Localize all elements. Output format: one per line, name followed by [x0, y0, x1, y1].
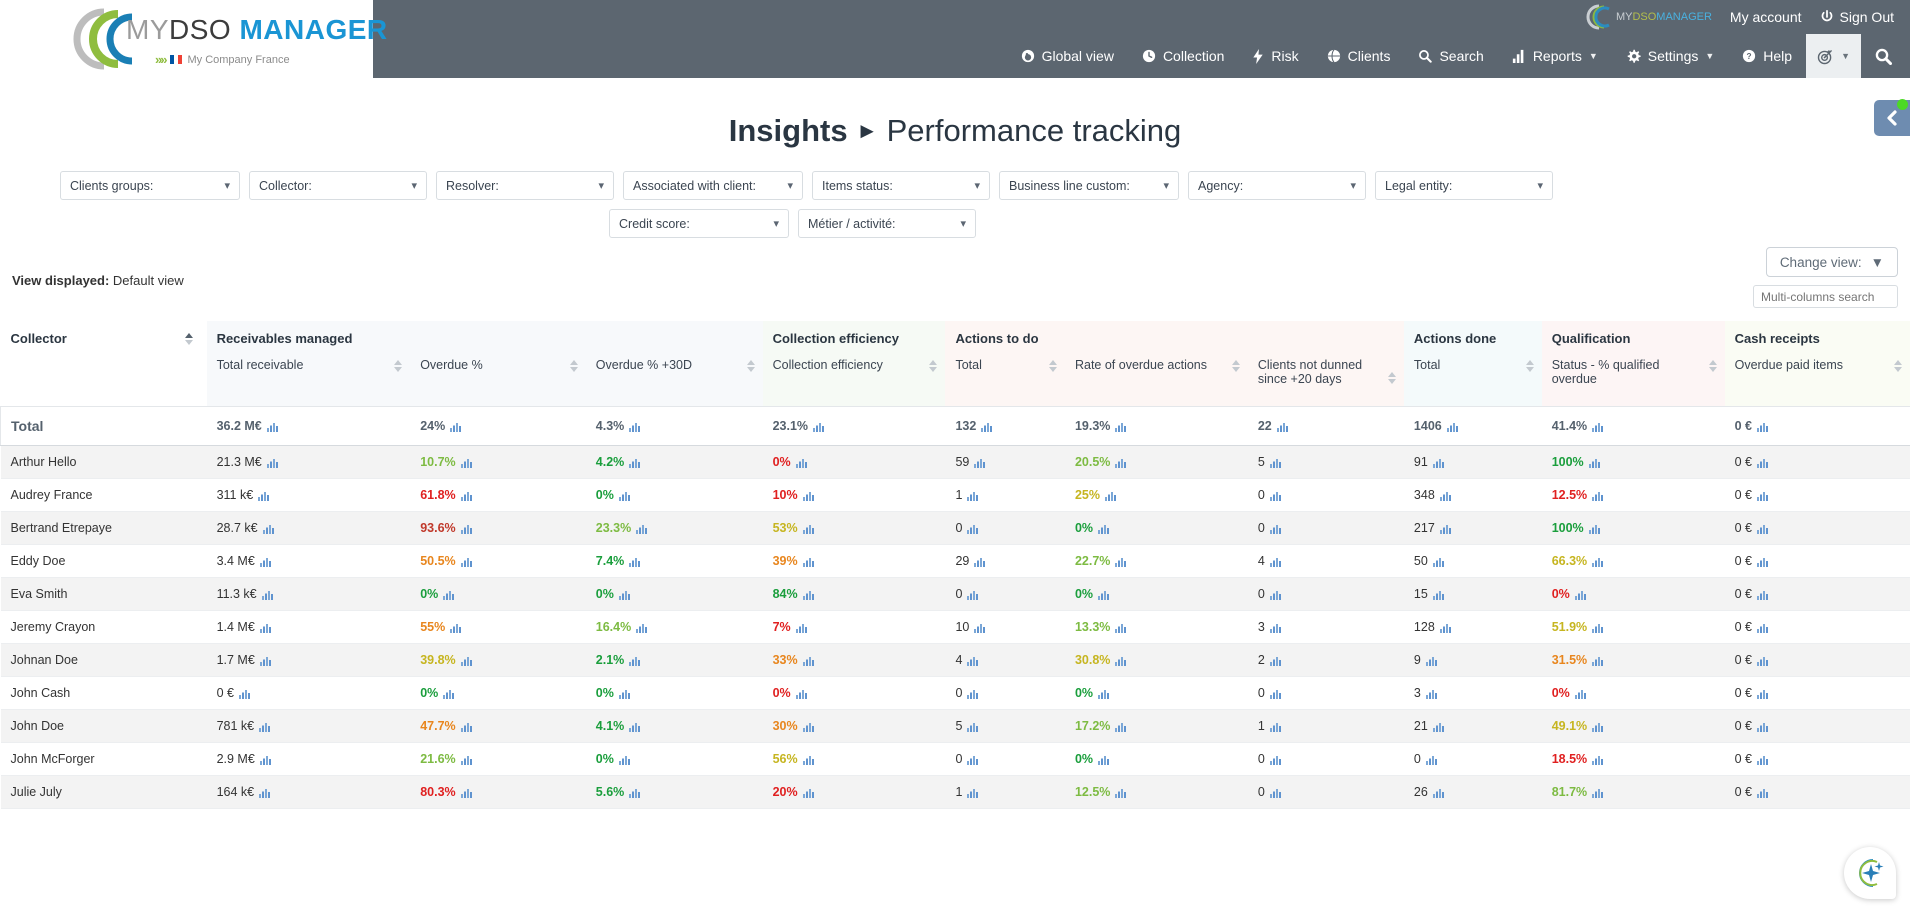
cell-value[interactable]: 3 — [1404, 677, 1542, 710]
cell-value[interactable]: 128 — [1404, 611, 1542, 644]
cell-value[interactable]: 3 — [1248, 611, 1404, 644]
mini-bar-chart-icon[interactable] — [1433, 589, 1444, 600]
mini-bar-chart-icon[interactable] — [974, 457, 985, 468]
cell-value[interactable]: 61.8% — [410, 479, 586, 512]
mini-bar-chart-icon[interactable] — [1426, 754, 1437, 765]
cell-collector-name[interactable]: Total — [1, 407, 207, 446]
cell-value[interactable]: 0 — [1248, 677, 1404, 710]
mini-bar-chart-icon[interactable] — [1440, 490, 1451, 501]
mini-bar-chart-icon[interactable] — [967, 523, 978, 534]
cell-value[interactable]: 28.7 k€ — [207, 512, 411, 545]
mini-bar-chart-icon[interactable] — [1757, 523, 1768, 534]
mini-bar-chart-icon[interactable] — [1592, 490, 1603, 501]
mini-bar-chart-icon[interactable] — [1270, 589, 1281, 600]
cell-value[interactable]: 23.3% — [586, 512, 763, 545]
cell-value[interactable]: 348 — [1404, 479, 1542, 512]
cell-collector-name[interactable]: Johnan Doe — [1, 644, 207, 677]
mini-bar-chart-icon[interactable] — [803, 589, 814, 600]
mini-bar-chart-icon[interactable] — [629, 457, 640, 468]
sort-toggle-total-receivable[interactable] — [394, 360, 402, 372]
cell-value[interactable]: 4.1% — [586, 710, 763, 743]
mini-bar-chart-icon[interactable] — [1270, 523, 1281, 534]
mini-bar-chart-icon[interactable] — [267, 421, 278, 432]
mini-bar-chart-icon[interactable] — [1098, 523, 1109, 534]
mini-bar-chart-icon[interactable] — [974, 556, 985, 567]
mini-bar-chart-icon[interactable] — [619, 688, 630, 699]
mini-bar-chart-icon[interactable] — [1575, 688, 1586, 699]
cell-collector-name[interactable]: Audrey France — [1, 479, 207, 512]
cell-value[interactable]: 0% — [1542, 578, 1725, 611]
cell-value[interactable]: 21.6% — [410, 743, 586, 776]
cell-value[interactable]: 0 € — [1725, 677, 1910, 710]
cell-value[interactable]: 51.9% — [1542, 611, 1725, 644]
cell-collector-name[interactable]: Jeremy Crayon — [1, 611, 207, 644]
mini-bar-chart-icon[interactable] — [1592, 421, 1603, 432]
cell-value[interactable]: 25% — [1065, 479, 1248, 512]
cell-value[interactable]: 0% — [763, 677, 946, 710]
column-actions-total[interactable]: Total — [945, 352, 1064, 407]
sort-toggle-rate-of-overdue-actions[interactable] — [1232, 360, 1240, 372]
cell-value[interactable]: 66.3% — [1542, 545, 1725, 578]
mini-bar-chart-icon[interactable] — [796, 622, 807, 633]
cell-value[interactable]: 781 k€ — [207, 710, 411, 743]
mini-bar-chart-icon[interactable] — [443, 688, 454, 699]
mini-bar-chart-icon[interactable] — [1115, 457, 1126, 468]
cell-value[interactable]: 0% — [586, 479, 763, 512]
mini-bar-chart-icon[interactable] — [636, 523, 647, 534]
nav-item-search[interactable]: Search — [1404, 34, 1497, 78]
mini-bar-chart-icon[interactable] — [967, 688, 978, 699]
nav-item-risk[interactable]: Risk — [1238, 34, 1312, 78]
cell-value[interactable]: 1 — [945, 776, 1064, 809]
cell-value[interactable]: 24% — [410, 407, 586, 446]
mini-bar-chart-icon[interactable] — [803, 721, 814, 732]
mini-bar-chart-icon[interactable] — [260, 556, 271, 567]
cell-value[interactable]: 80.3% — [410, 776, 586, 809]
cell-value[interactable]: 7% — [763, 611, 946, 644]
sort-toggle-overdue-pct-30d[interactable] — [747, 360, 755, 372]
filter-collector[interactable]: Collector: ▾ — [249, 171, 427, 200]
cell-value[interactable]: 0 — [1248, 743, 1404, 776]
mini-bar-chart-icon[interactable] — [1440, 622, 1451, 633]
cell-value[interactable]: 0% — [1065, 512, 1248, 545]
cell-value[interactable]: 12.5% — [1542, 479, 1725, 512]
cell-value[interactable]: 164 k€ — [207, 776, 411, 809]
table-row[interactable]: Johnan Doe1.7 M€39.8%2.1%33%430.8%2931.5… — [1, 644, 1910, 677]
mini-bar-chart-icon[interactable] — [629, 556, 640, 567]
mini-bar-chart-icon[interactable] — [803, 490, 814, 501]
mini-bar-chart-icon[interactable] — [1592, 754, 1603, 765]
mini-bar-chart-icon[interactable] — [267, 457, 278, 468]
filter-agency[interactable]: Agency: ▾ — [1188, 171, 1366, 200]
mini-bar-chart-icon[interactable] — [1115, 721, 1126, 732]
filter-metier-activite[interactable]: Métier / activité: ▾ — [798, 209, 976, 238]
table-row[interactable]: Jeremy Crayon1.4 M€55%16.4%7%1013.3%3128… — [1, 611, 1910, 644]
mini-bar-chart-icon[interactable] — [1277, 421, 1288, 432]
cell-value[interactable]: 1.4 M€ — [207, 611, 411, 644]
mini-bar-chart-icon[interactable] — [803, 523, 814, 534]
cell-collector-name[interactable]: Bertrand Etrepaye — [1, 512, 207, 545]
mini-bar-chart-icon[interactable] — [461, 754, 472, 765]
cell-collector-name[interactable]: Eddy Doe — [1, 545, 207, 578]
mini-bar-chart-icon[interactable] — [1270, 655, 1281, 666]
mini-bar-chart-icon[interactable] — [443, 589, 454, 600]
mini-bar-chart-icon[interactable] — [262, 589, 273, 600]
mini-bar-chart-icon[interactable] — [974, 622, 985, 633]
cell-value[interactable]: 31.5% — [1542, 644, 1725, 677]
cell-value[interactable]: 84% — [763, 578, 946, 611]
mini-bar-chart-icon[interactable] — [636, 622, 647, 633]
mini-bar-chart-icon[interactable] — [1270, 556, 1281, 567]
cell-value[interactable]: 19.3% — [1065, 407, 1248, 446]
mini-bar-chart-icon[interactable] — [263, 523, 274, 534]
table-row[interactable]: Arthur Hello21.3 M€10.7%4.2%0%5920.5%591… — [1, 446, 1910, 479]
cell-value[interactable]: 16.4% — [586, 611, 763, 644]
multi-columns-search-input[interactable] — [1753, 285, 1898, 308]
cell-value[interactable]: 47.7% — [410, 710, 586, 743]
mini-bar-chart-icon[interactable] — [1757, 787, 1768, 798]
sort-toggle-collector[interactable] — [185, 333, 193, 345]
cell-value[interactable]: 0 € — [1725, 611, 1910, 644]
mini-bar-chart-icon[interactable] — [1426, 688, 1437, 699]
mini-bar-chart-icon[interactable] — [259, 721, 270, 732]
cell-value[interactable]: 50 — [1404, 545, 1542, 578]
cell-value[interactable]: 2 — [1248, 644, 1404, 677]
cell-value[interactable]: 10.7% — [410, 446, 586, 479]
cell-value[interactable]: 1406 — [1404, 407, 1542, 446]
cell-value[interactable]: 21 — [1404, 710, 1542, 743]
cell-value[interactable]: 39% — [763, 545, 946, 578]
cell-value[interactable]: 15 — [1404, 578, 1542, 611]
table-row[interactable]: Julie July164 k€80.3%5.6%20%112.5%02681.… — [1, 776, 1910, 809]
mini-bar-chart-icon[interactable] — [1270, 754, 1281, 765]
cell-value[interactable]: 4.3% — [586, 407, 763, 446]
mini-bar-chart-icon[interactable] — [1115, 622, 1126, 633]
mini-bar-chart-icon[interactable] — [967, 655, 978, 666]
cell-value[interactable]: 33% — [763, 644, 946, 677]
column-overdue-pct-30d[interactable]: Overdue % +30D — [586, 352, 763, 407]
mini-bar-chart-icon[interactable] — [239, 688, 250, 699]
cell-value[interactable]: 0 € — [1725, 407, 1910, 446]
cell-value[interactable]: 0 € — [1725, 446, 1910, 479]
mini-bar-chart-icon[interactable] — [803, 787, 814, 798]
nav-item-global-view[interactable]: Global view — [1007, 34, 1128, 78]
sort-toggle-clients-not-dunned[interactable] — [1388, 372, 1396, 384]
mini-bar-chart-icon[interactable] — [1433, 787, 1444, 798]
column-rate-of-overdue-actions[interactable]: Rate of overdue actions — [1065, 352, 1248, 407]
mini-bar-chart-icon[interactable] — [1592, 721, 1603, 732]
cell-value[interactable]: 0 € — [1725, 743, 1910, 776]
mini-bar-chart-icon[interactable] — [461, 523, 472, 534]
cell-value[interactable]: 12.5% — [1065, 776, 1248, 809]
cell-value[interactable]: 0 — [1248, 578, 1404, 611]
mini-bar-chart-icon[interactable] — [259, 787, 270, 798]
mini-bar-chart-icon[interactable] — [967, 490, 978, 501]
mini-bar-chart-icon[interactable] — [450, 421, 461, 432]
cell-value[interactable]: 2.9 M€ — [207, 743, 411, 776]
mini-bar-chart-icon[interactable] — [1115, 655, 1126, 666]
mini-bar-chart-icon[interactable] — [796, 457, 807, 468]
cell-value[interactable]: 53% — [763, 512, 946, 545]
column-clients-not-dunned[interactable]: Clients not dunned since +20 days — [1248, 352, 1404, 407]
cell-value[interactable]: 0% — [1065, 743, 1248, 776]
cell-value[interactable]: 0 € — [1725, 512, 1910, 545]
cell-value[interactable]: 39.8% — [410, 644, 586, 677]
cell-value[interactable]: 30.8% — [1065, 644, 1248, 677]
cell-value[interactable]: 5.6% — [586, 776, 763, 809]
cell-value[interactable]: 217 — [1404, 512, 1542, 545]
cell-value[interactable]: 2.1% — [586, 644, 763, 677]
my-account-link[interactable]: My account — [1730, 9, 1802, 25]
cell-value[interactable]: 30% — [763, 710, 946, 743]
mini-bar-chart-icon[interactable] — [1447, 421, 1458, 432]
cell-value[interactable]: 0 € — [1725, 776, 1910, 809]
mini-bar-chart-icon[interactable] — [1757, 589, 1768, 600]
mini-bar-chart-icon[interactable] — [1757, 421, 1768, 432]
mini-bar-chart-icon[interactable] — [629, 421, 640, 432]
mini-bar-chart-icon[interactable] — [1433, 721, 1444, 732]
nav-item-help[interactable]: ? Help — [1728, 34, 1806, 78]
mini-bar-chart-icon[interactable] — [619, 589, 630, 600]
group-collector[interactable]: Collector — [1, 321, 207, 352]
column-status-qualified-overdue[interactable]: Status - % qualified overdue — [1542, 352, 1725, 407]
cell-value[interactable]: 0 — [1248, 479, 1404, 512]
filter-business-line-custom[interactable]: Business line custom: ▾ — [999, 171, 1179, 200]
cell-value[interactable]: 0 — [1404, 743, 1542, 776]
mini-bar-chart-icon[interactable] — [1270, 787, 1281, 798]
cell-value[interactable]: 49.1% — [1542, 710, 1725, 743]
mini-bar-chart-icon[interactable] — [1426, 655, 1437, 666]
cell-value[interactable]: 4 — [945, 644, 1064, 677]
mini-bar-chart-icon[interactable] — [258, 490, 269, 501]
cell-value[interactable]: 0% — [763, 446, 946, 479]
cell-collector-name[interactable]: John Doe — [1, 710, 207, 743]
cell-value[interactable]: 0% — [1065, 578, 1248, 611]
cell-collector-name[interactable]: John McForger — [1, 743, 207, 776]
mini-bar-chart-icon[interactable] — [1592, 655, 1603, 666]
mini-bar-chart-icon[interactable] — [1098, 688, 1109, 699]
table-row[interactable]: Bertrand Etrepaye28.7 k€93.6%23.3%53%00%… — [1, 512, 1910, 545]
cell-value[interactable]: 10 — [945, 611, 1064, 644]
cell-value[interactable]: 100% — [1542, 446, 1725, 479]
mini-bar-chart-icon[interactable] — [1115, 556, 1126, 567]
sort-toggle-overdue-pct[interactable] — [570, 360, 578, 372]
mini-bar-chart-icon[interactable] — [461, 787, 472, 798]
cell-value[interactable]: 0% — [586, 677, 763, 710]
mini-bar-chart-icon[interactable] — [629, 721, 640, 732]
assistant-button[interactable] — [1844, 847, 1896, 899]
cell-value[interactable]: 0 — [945, 578, 1064, 611]
mini-bar-chart-icon[interactable] — [1757, 655, 1768, 666]
mini-bar-chart-icon[interactable] — [1115, 421, 1126, 432]
sort-toggle-collection-efficiency[interactable] — [929, 360, 937, 372]
column-total-receivable[interactable]: Total receivable — [207, 352, 411, 407]
mini-bar-chart-icon[interactable] — [803, 655, 814, 666]
brand-logo-panel[interactable]: MYDSO MANAGER »» My Company France — [0, 0, 373, 78]
cell-value[interactable]: 0 € — [1725, 644, 1910, 677]
cell-value[interactable]: 11.3 k€ — [207, 578, 411, 611]
cell-value[interactable]: 36.2 M€ — [207, 407, 411, 446]
cell-value[interactable]: 0 € — [1725, 479, 1910, 512]
cell-value[interactable]: 22.7% — [1065, 545, 1248, 578]
cell-value[interactable]: 59 — [945, 446, 1064, 479]
cell-value[interactable]: 0 — [1248, 776, 1404, 809]
cell-value[interactable]: 93.6% — [410, 512, 586, 545]
mini-bar-chart-icon[interactable] — [1270, 721, 1281, 732]
filter-items-status[interactable]: Items status: ▾ — [812, 171, 990, 200]
mini-bar-chart-icon[interactable] — [803, 754, 814, 765]
mini-bar-chart-icon[interactable] — [629, 655, 640, 666]
mini-bar-chart-icon[interactable] — [967, 754, 978, 765]
cell-value[interactable]: 1 — [945, 479, 1064, 512]
mini-bar-chart-icon[interactable] — [1757, 457, 1768, 468]
mini-bar-chart-icon[interactable] — [461, 655, 472, 666]
cell-value[interactable]: 0% — [410, 578, 586, 611]
mini-bar-chart-icon[interactable] — [1757, 622, 1768, 633]
nav-item-settings[interactable]: Settings ▼ — [1612, 34, 1729, 78]
cell-collector-name[interactable]: John Cash — [1, 677, 207, 710]
mini-bar-chart-icon[interactable] — [461, 556, 472, 567]
nav-item-collection[interactable]: Collection — [1128, 34, 1238, 78]
mini-bar-chart-icon[interactable] — [1098, 754, 1109, 765]
mini-bar-chart-icon[interactable] — [1757, 721, 1768, 732]
mini-bar-chart-icon[interactable] — [629, 787, 640, 798]
table-row[interactable]: John Cash0 €0%0%0%00%030%0 € — [1, 677, 1910, 710]
cell-value[interactable]: 20.5% — [1065, 446, 1248, 479]
table-row[interactable]: Audrey France311 k€61.8%0%10%125%034812.… — [1, 479, 1910, 512]
mini-bar-chart-icon[interactable] — [1440, 523, 1451, 534]
cell-value[interactable]: 0 € — [207, 677, 411, 710]
cell-value[interactable]: 91 — [1404, 446, 1542, 479]
mini-bar-chart-icon[interactable] — [1589, 523, 1600, 534]
column-collection-efficiency[interactable]: Collection efficiency — [763, 352, 946, 407]
cell-value[interactable]: 1.7 M€ — [207, 644, 411, 677]
cell-value[interactable]: 0% — [410, 677, 586, 710]
mini-bar-chart-icon[interactable] — [1105, 490, 1116, 501]
cell-value[interactable]: 0 € — [1725, 710, 1910, 743]
cell-value[interactable]: 26 — [1404, 776, 1542, 809]
mini-bar-chart-icon[interactable] — [1592, 556, 1603, 567]
mini-bar-chart-icon[interactable] — [967, 589, 978, 600]
cell-value[interactable]: 18.5% — [1542, 743, 1725, 776]
mini-bar-chart-icon[interactable] — [981, 421, 992, 432]
mini-bar-chart-icon[interactable] — [1589, 457, 1600, 468]
cell-value[interactable]: 0 € — [1725, 545, 1910, 578]
mini-bar-chart-icon[interactable] — [1757, 688, 1768, 699]
mini-bar-chart-icon[interactable] — [619, 490, 630, 501]
cell-value[interactable]: 17.2% — [1065, 710, 1248, 743]
table-row[interactable]: Eva Smith11.3 k€0%0%84%00%0150%0 € — [1, 578, 1910, 611]
cell-collector-name[interactable]: Arthur Hello — [1, 446, 207, 479]
cell-value[interactable]: 0% — [1065, 677, 1248, 710]
cell-value[interactable]: 4.2% — [586, 446, 763, 479]
cell-value[interactable]: 9 — [1404, 644, 1542, 677]
column-overdue-pct[interactable]: Overdue % — [410, 352, 586, 407]
cell-value[interactable]: 132 — [945, 407, 1064, 446]
cell-value[interactable]: 0% — [1542, 677, 1725, 710]
mini-bar-chart-icon[interactable] — [1270, 490, 1281, 501]
table-row[interactable]: John McForger2.9 M€21.6%0%56%00%0018.5%0… — [1, 743, 1910, 776]
mini-bar-chart-icon[interactable] — [450, 622, 461, 633]
mini-bar-chart-icon[interactable] — [1757, 556, 1768, 567]
mini-bar-chart-icon[interactable] — [619, 754, 630, 765]
sort-toggle-actions-total[interactable] — [1049, 360, 1057, 372]
mini-bar-chart-icon[interactable] — [803, 556, 814, 567]
cell-value[interactable]: 0 — [1248, 512, 1404, 545]
cell-collector-name[interactable]: Julie July — [1, 776, 207, 809]
cell-value[interactable]: 1 — [1248, 710, 1404, 743]
filter-legal-entity[interactable]: Legal entity: ▾ — [1375, 171, 1553, 200]
mini-bar-chart-icon[interactable] — [461, 490, 472, 501]
cell-value[interactable]: 0% — [586, 743, 763, 776]
mini-bar-chart-icon[interactable] — [1433, 556, 1444, 567]
mini-bar-chart-icon[interactable] — [1757, 754, 1768, 765]
cell-value[interactable]: 5 — [1248, 446, 1404, 479]
cell-value[interactable]: 50.5% — [410, 545, 586, 578]
cell-value[interactable]: 41.4% — [1542, 407, 1725, 446]
mini-bar-chart-icon[interactable] — [461, 457, 472, 468]
table-row[interactable]: John Doe781 k€47.7%4.1%30%517.2%12149.1%… — [1, 710, 1910, 743]
cell-value[interactable]: 21.3 M€ — [207, 446, 411, 479]
mini-bar-chart-icon[interactable] — [260, 655, 271, 666]
cell-value[interactable]: 23.1% — [763, 407, 946, 446]
mini-bar-chart-icon[interactable] — [1270, 688, 1281, 699]
mini-bar-chart-icon[interactable] — [1115, 787, 1126, 798]
cell-value[interactable]: 55% — [410, 611, 586, 644]
filter-resolver[interactable]: Resolver: ▾ — [436, 171, 614, 200]
filter-clients-groups[interactable]: Clients groups: ▾ — [60, 171, 240, 200]
cell-value[interactable]: 7.4% — [586, 545, 763, 578]
cell-value[interactable]: 10% — [763, 479, 946, 512]
filter-associated-with-client[interactable]: Associated with client: ▾ — [623, 171, 803, 200]
cell-value[interactable]: 13.3% — [1065, 611, 1248, 644]
mini-bar-chart-icon[interactable] — [1757, 490, 1768, 501]
mini-bar-chart-icon[interactable] — [461, 721, 472, 732]
cell-value[interactable]: 100% — [1542, 512, 1725, 545]
mini-bar-chart-icon[interactable] — [1592, 787, 1603, 798]
filter-credit-score[interactable]: Credit score: ▾ — [609, 209, 789, 238]
nav-item-reports[interactable]: Reports ▼ — [1498, 34, 1612, 78]
cell-value[interactable]: 0% — [586, 578, 763, 611]
cell-value[interactable]: 311 k€ — [207, 479, 411, 512]
nav-item-clients[interactable]: Clients — [1313, 34, 1405, 78]
cell-value[interactable]: 0 — [945, 512, 1064, 545]
table-row[interactable]: Total36.2 M€24%4.3%23.1%13219.3%22140641… — [1, 407, 1910, 446]
mini-bar-chart-icon[interactable] — [1592, 622, 1603, 633]
sort-toggle-status-qualified-overdue[interactable] — [1709, 360, 1717, 372]
sign-out-button[interactable]: Sign Out — [1820, 9, 1894, 25]
table-row[interactable]: Eddy Doe3.4 M€50.5%7.4%39%2922.7%45066.3… — [1, 545, 1910, 578]
mini-bar-chart-icon[interactable] — [967, 721, 978, 732]
mini-bar-chart-icon[interactable] — [1270, 622, 1281, 633]
cell-value[interactable]: 4 — [1248, 545, 1404, 578]
cell-value[interactable]: 5 — [945, 710, 1064, 743]
cell-value[interactable]: 0 — [945, 677, 1064, 710]
cell-value[interactable]: 0 € — [1725, 578, 1910, 611]
sort-toggle-overdue-paid-items[interactable] — [1894, 360, 1902, 372]
mini-bar-chart-icon[interactable] — [1270, 457, 1281, 468]
column-overdue-paid-items[interactable]: Overdue paid items — [1725, 352, 1910, 407]
mini-bar-chart-icon[interactable] — [1575, 589, 1586, 600]
mini-bar-chart-icon[interactable] — [1098, 589, 1109, 600]
nav-item-targets[interactable]: ▼ — [1806, 34, 1861, 78]
mini-bar-chart-icon[interactable] — [1433, 457, 1444, 468]
cell-collector-name[interactable]: Eva Smith — [1, 578, 207, 611]
mini-bar-chart-icon[interactable] — [796, 688, 807, 699]
cell-value[interactable]: 22 — [1248, 407, 1404, 446]
cell-value[interactable]: 3.4 M€ — [207, 545, 411, 578]
cell-value[interactable]: 81.7% — [1542, 776, 1725, 809]
